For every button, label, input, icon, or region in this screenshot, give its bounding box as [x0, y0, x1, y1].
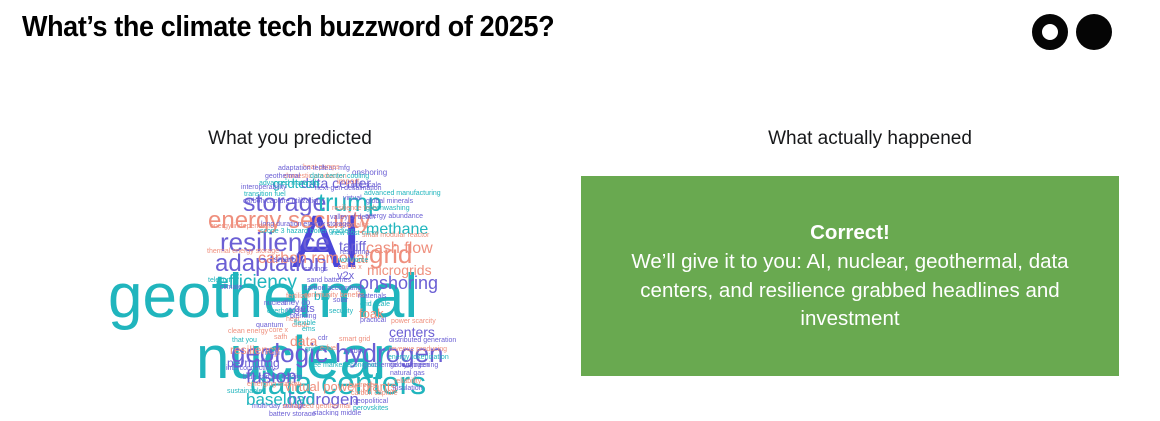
- wordcloud-word: revenue producing: [389, 346, 447, 353]
- right-panel-heading: What actually happened: [580, 128, 1160, 150]
- wordcloud-word: reliability: [394, 378, 421, 385]
- circle-outline-icon: [1032, 14, 1068, 50]
- wordcloud-word: multi: [265, 350, 280, 357]
- wordcloud-word: blending: [290, 313, 316, 320]
- wordcloud-word: virtual: [343, 195, 362, 202]
- wordcloud-word: geopolitical: [353, 398, 388, 405]
- wordcloud-word: practical: [360, 317, 386, 324]
- wordcloud-predicted: geothermalnuclearAIdata centersgeologic …: [104, 160, 524, 416]
- wordcloud-word: solar: [333, 297, 348, 304]
- wordcloud-word: smart: [274, 256, 294, 264]
- wordcloud-word: cdr: [318, 335, 328, 342]
- wordcloud-word: natural gas: [390, 370, 425, 377]
- wordcloud-word: telecom: [208, 277, 233, 284]
- wordcloud-word: thermal energy storage: [207, 248, 279, 255]
- wordcloud-word: stacking middle: [313, 410, 361, 416]
- wordcloud-word: coil to x: [338, 264, 362, 271]
- wordcloud-word: clean energy: [228, 328, 268, 335]
- wordcloud-word: workforce: [338, 257, 368, 264]
- page-header: What’s the climate tech buzzword of 2025…: [0, 0, 1160, 72]
- wordcloud-word: carbon accounting: [304, 285, 361, 292]
- wordcloud-word: grid scale: [351, 182, 381, 189]
- wordcloud-word: savings: [304, 266, 328, 273]
- wordcloud-word: smart grid: [339, 336, 370, 343]
- wordcloud-word: carbon capture: [351, 390, 398, 397]
- wordcloud-word: microgrids: [367, 263, 432, 277]
- wordcloud-word: battery storage: [269, 411, 316, 416]
- circle-filled-icon: [1076, 14, 1112, 50]
- wordcloud-word: interoperability: [241, 184, 287, 191]
- wordcloud-word: distributed generation: [389, 337, 456, 344]
- wordcloud-word: materials: [358, 293, 386, 300]
- wordcloud-word: that you: [232, 337, 257, 344]
- page-title: What’s the climate tech buzzword of 2025…: [22, 11, 554, 44]
- answer-box: Correct! We’ll give it to you: AI, nucle…: [581, 176, 1119, 376]
- wordcloud-word: small modular reactor: [362, 232, 429, 239]
- wordcloud-word: advanced manufacturing: [364, 190, 441, 197]
- wordcloud-word: transition fuel: [244, 191, 286, 198]
- wordcloud-word: free market economics: [309, 362, 380, 369]
- wordcloud-word: geothermal: [265, 173, 300, 180]
- wordcloud-word: energy independence: [210, 223, 277, 230]
- wordcloud-word: cash flow: [366, 241, 433, 257]
- wordcloud-word: global minerals: [366, 198, 413, 205]
- wordcloud-word: energy tokenization: [388, 354, 449, 361]
- wordcloud-word: flexible: [294, 320, 316, 327]
- wordcloud-word: enhanced geothermal: [283, 403, 351, 410]
- answer-text: Correct! We’ll give it to you: AI, nucle…: [595, 219, 1105, 333]
- wordcloud-word: energy abundance: [365, 213, 423, 220]
- wordcloud-word: climate: [220, 284, 242, 291]
- answer-detail: We’ll give it to you: AI, nuclear, geoth…: [595, 248, 1105, 333]
- brand-logo: [1032, 12, 1122, 52]
- wordcloud-word: power scarcity: [391, 318, 436, 325]
- wordcloud-word: e-fuel: [320, 345, 338, 352]
- wordcloud-word: they do: [284, 299, 310, 307]
- wordcloud-word: grid scale: [360, 301, 390, 308]
- wordcloud-word: sustainable: [227, 388, 262, 395]
- wordcloud-word: greenwashing: [366, 205, 410, 212]
- wordcloud-word: adaptation tech: [278, 165, 326, 172]
- wordcloud-word: carbon: [344, 348, 365, 355]
- wordcloud-word: ems: [302, 326, 315, 333]
- wordcloud-word: core x: [269, 327, 288, 334]
- wordcloud-word: safh: [274, 334, 287, 341]
- wordcloud-word: sand batteries: [307, 277, 351, 284]
- answer-verdict: Correct!: [595, 219, 1105, 247]
- wordcloud-word: reshoring: [340, 249, 369, 256]
- wordcloud-word: interconnection: [226, 365, 273, 372]
- wordcloud-word: security: [329, 308, 353, 315]
- wordcloud-word: hydrogen: [349, 382, 378, 389]
- wordcloud-word: emerging market: [247, 381, 300, 388]
- left-panel-heading: What you predicted: [0, 128, 580, 150]
- wordcloud-word: carbon capture utilization: [243, 198, 321, 205]
- wordcloud-word: blue carbon credits: [243, 374, 302, 381]
